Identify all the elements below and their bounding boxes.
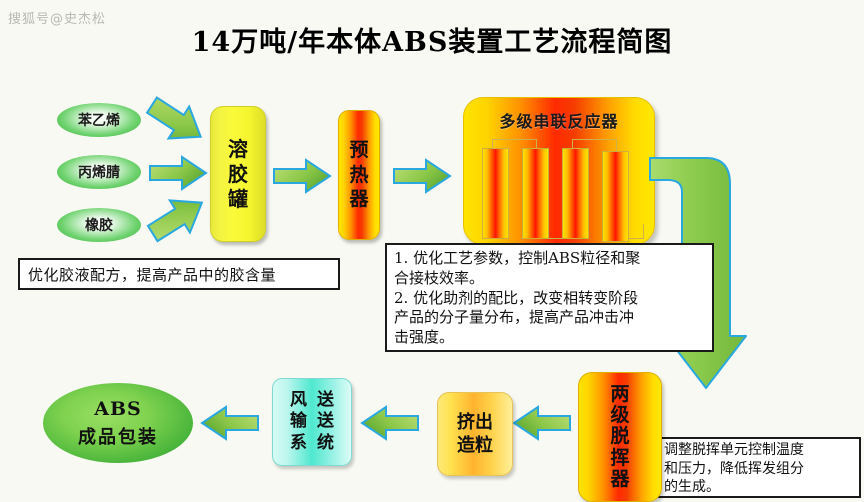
arrow-preheater-to-reactor [392, 158, 454, 194]
arrow-rubber-to-tank [146, 191, 212, 243]
extruder-line-1: 挤出 [457, 411, 493, 434]
blower-c1-char-2: 输 [290, 411, 307, 432]
devol-char-3: 脱 [610, 426, 629, 447]
reactor-tube-4 [602, 151, 629, 242]
arrow-devolatilizer-to-extruder [512, 405, 574, 441]
node-dissolving-tank[interactable]: 溶 胶 罐 [210, 106, 266, 242]
preheater-char-1: 预 [349, 138, 368, 163]
blower-c2-char-3: 统 [317, 433, 334, 454]
input-node-styrene[interactable]: 苯乙烯 [57, 103, 141, 137]
note-reactor-line-4: 产品的分子量分布，提高产品冲击冲 [394, 308, 705, 328]
arrow-extruder-to-blower [360, 405, 422, 441]
note-reactor-line-3: 2. 优化助剂的配比，改变相转变阶段 [394, 289, 705, 309]
reactor-tube-3 [562, 148, 589, 239]
preheater-char-2: 热 [349, 163, 368, 188]
node-preheater[interactable]: 预 热 器 [338, 110, 380, 240]
node-extrusion-pelletizing[interactable]: 挤出 造粒 [437, 392, 513, 476]
blower-c1-char-3: 系 [290, 433, 307, 454]
note-feed-formula: 优化胶液配方，提高产品中的胶含量 [18, 258, 340, 290]
blower-column-1: 风 输 系 [290, 390, 307, 454]
note-devol-line-1: 调整脱挥单元控制温度 [664, 441, 854, 460]
tank-char-3: 罐 [228, 187, 248, 212]
blower-column-2: 送 送 统 [317, 390, 334, 454]
note-devol-line-3: 的生成。 [664, 478, 854, 497]
devol-char-2: 级 [610, 405, 629, 426]
devol-char-4: 挥 [610, 448, 629, 469]
reactor-tube-2 [522, 148, 549, 239]
note-reactor-line-1: 1. 优化工艺参数，控制ABS粒径和聚 [394, 249, 705, 269]
input-node-rubber[interactable]: 橡胶 [57, 208, 141, 242]
preheater-char-3: 器 [349, 187, 368, 212]
tank-char-2: 胶 [228, 162, 248, 187]
node-pneumatic-conveying-system[interactable]: 风 输 系 送 送 统 [272, 378, 352, 466]
input-node-acrylonitrile[interactable]: 丙烯腈 [57, 155, 141, 189]
blower-c1-char-1: 风 [290, 390, 307, 411]
blower-c2-char-2: 送 [317, 411, 334, 432]
note-devolatilizer-control: 调整脱挥单元控制温度 和压力，降低挥发组分 的生成。 [657, 437, 861, 498]
input-label: 丙烯腈 [78, 162, 120, 182]
arrow-tank-to-preheater [272, 158, 334, 194]
process-flow-diagram: 搜狐号@史杰松 14万吨/年本体ABS装置工艺流程简图 苯乙烯 丙烯腈 橡胶 [0, 0, 864, 500]
tank-char-1: 溶 [228, 137, 248, 162]
product-label-1: ABS [94, 398, 142, 420]
input-label: 橡胶 [85, 215, 113, 235]
input-label: 苯乙烯 [78, 110, 120, 130]
arrow-acrylonitrile-to-tank [148, 155, 210, 191]
note-reactor-line-5: 击强度。 [394, 328, 705, 348]
note-devol-line-2: 和压力，降低挥发组分 [664, 460, 854, 479]
product-label-2: 成品包装 [78, 423, 158, 449]
note-reactor-line-2: 合接枝效率。 [394, 269, 705, 289]
devol-char-5: 器 [610, 469, 629, 490]
page-title: 14万吨/年本体ABS装置工艺流程简图 [0, 20, 864, 59]
note-reactor-optimization: 1. 优化工艺参数，控制ABS粒径和聚 合接枝效率。 2. 优化助剂的配比，改变… [385, 243, 714, 352]
devol-char-1: 两 [610, 384, 629, 405]
reactor-tube-1 [482, 148, 509, 239]
arrow-styrene-to-tank [145, 96, 211, 148]
node-abs-product-packaging[interactable]: ABS 成品包装 [43, 383, 193, 463]
extruder-line-2: 造粒 [457, 434, 493, 457]
node-two-stage-devolatilizer[interactable]: 两 级 脱 挥 器 [578, 372, 662, 502]
arrow-blower-to-product [200, 405, 262, 441]
note-feed-text: 优化胶液配方，提高产品中的胶含量 [28, 264, 276, 285]
blower-c2-char-1: 送 [317, 390, 334, 411]
node-multistage-reactor[interactable]: 多级串联反应器 [463, 97, 655, 245]
reactor-title: 多级串联反应器 [464, 108, 654, 132]
